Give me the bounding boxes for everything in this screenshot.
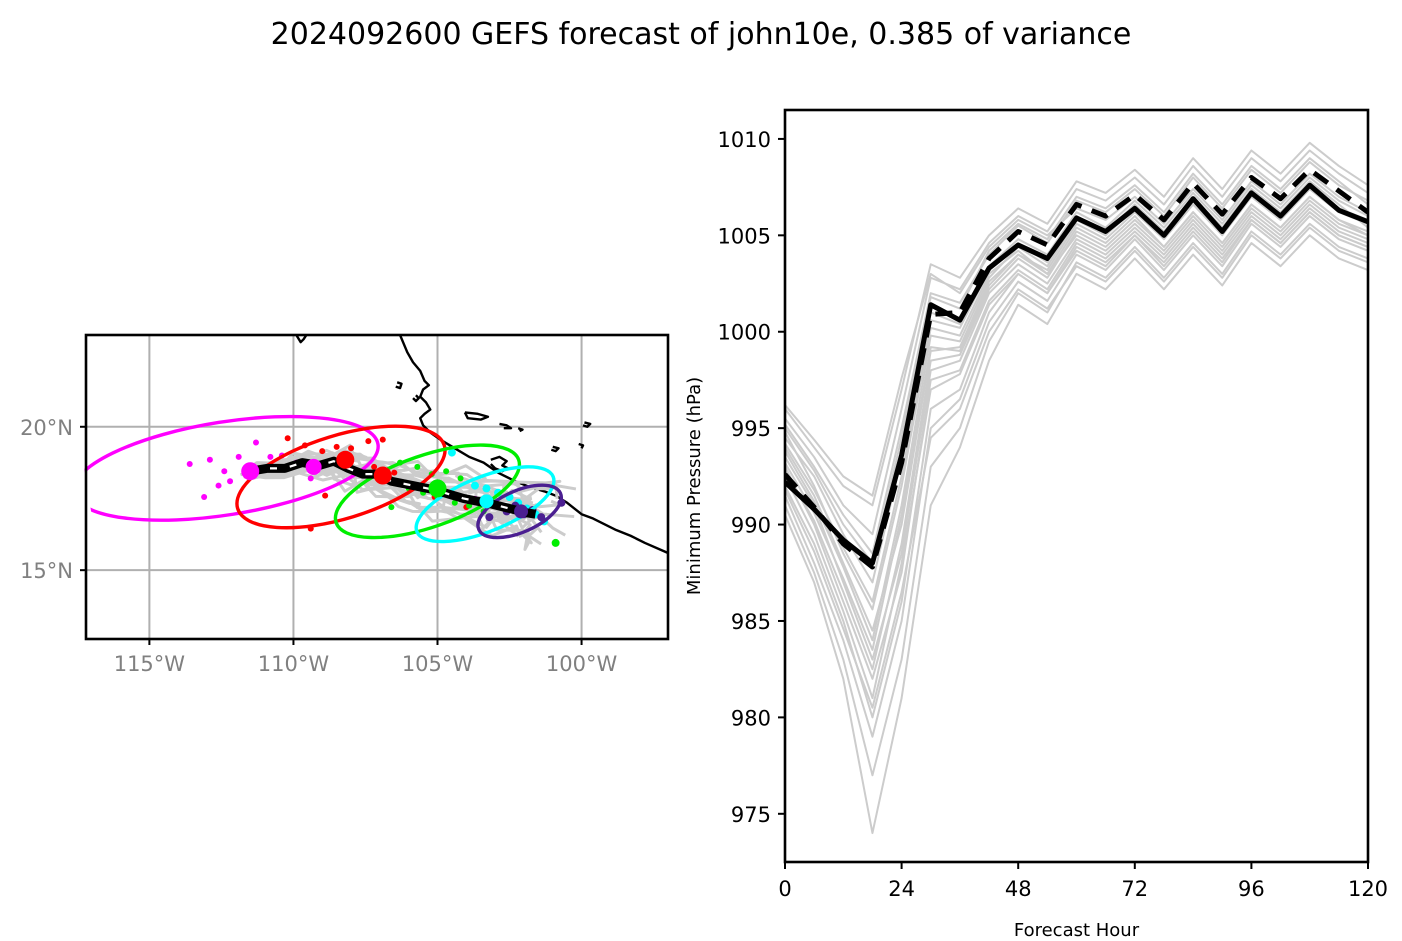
cluster-point xyxy=(391,470,397,476)
cluster-point xyxy=(388,504,394,510)
cluster-point xyxy=(201,494,207,500)
chart-ytick-label: 975 xyxy=(731,803,771,827)
figure-canvas: 2024092600 GEFS forecast of john10e, 0.3… xyxy=(0,0,1402,941)
mean-position-marker xyxy=(241,462,259,480)
figure-root: 2024092600 GEFS forecast of john10e, 0.3… xyxy=(0,0,1402,941)
pressure-chart-panel: 024487296120975980985990995100010051010F… xyxy=(684,110,1388,941)
chart-xtick-label: 48 xyxy=(1005,877,1032,901)
cluster-point xyxy=(319,448,325,454)
chart-ytick-label: 1005 xyxy=(718,224,771,248)
mean-position-marker xyxy=(429,479,447,497)
mean-position-marker xyxy=(306,459,322,475)
cluster-point xyxy=(236,454,242,460)
chart-ytick-label: 995 xyxy=(731,417,771,441)
cluster-point xyxy=(253,440,259,446)
mean-position-marker xyxy=(374,467,392,485)
chart-xtick-label: 96 xyxy=(1238,877,1265,901)
cluster-point xyxy=(322,493,328,499)
mean-position-marker xyxy=(479,494,493,508)
mean-position-marker xyxy=(336,451,354,469)
cluster-point xyxy=(471,482,479,490)
map-xtick-label: 105°W xyxy=(402,652,474,676)
cluster-point xyxy=(365,438,371,444)
map-ytick-label: 20°N xyxy=(20,416,73,440)
mean-position-marker xyxy=(514,504,528,518)
track-map-panel: 115°W110°W105°W100°W15°N20°N xyxy=(20,335,668,676)
cluster-point xyxy=(285,435,291,441)
cluster-point xyxy=(414,464,420,470)
chart-ytick-label: 985 xyxy=(731,610,771,634)
map-xtick-label: 110°W xyxy=(258,652,330,676)
cluster-point xyxy=(371,464,377,470)
chart-yaxis-label: Minimum Pressure (hPa) xyxy=(684,377,705,595)
chart-xtick-label: 0 xyxy=(778,877,791,901)
chart-xaxis-label: Forecast Hour xyxy=(1014,920,1140,941)
cluster-point xyxy=(227,478,233,484)
cluster-point xyxy=(308,475,314,481)
map-xtick-label: 115°W xyxy=(114,652,186,676)
chart-xtick-label: 120 xyxy=(1348,877,1388,901)
cluster-point xyxy=(187,461,193,467)
cluster-point xyxy=(443,468,449,474)
cluster-point xyxy=(334,444,340,450)
chart-ytick-label: 1000 xyxy=(718,321,771,345)
cluster-point xyxy=(207,457,213,463)
cluster-point xyxy=(216,483,222,489)
cluster-point xyxy=(485,513,493,521)
chart-xtick-label: 72 xyxy=(1121,877,1148,901)
cluster-point xyxy=(458,475,464,481)
map-ytick-label: 15°N xyxy=(20,559,73,583)
cluster-point xyxy=(348,445,354,451)
chart-ytick-label: 990 xyxy=(731,514,771,538)
page-title: 2024092600 GEFS forecast of john10e, 0.3… xyxy=(271,17,1132,52)
cluster-point xyxy=(267,454,273,460)
cluster-point xyxy=(482,484,490,492)
chart-xtick-label: 24 xyxy=(888,877,915,901)
chart-ytick-label: 980 xyxy=(731,706,771,730)
map-xtick-label: 100°W xyxy=(546,652,618,676)
chart-ytick-label: 1010 xyxy=(718,128,771,152)
cluster-point xyxy=(221,468,227,474)
cluster-point xyxy=(380,437,386,443)
cluster-point xyxy=(552,539,560,547)
